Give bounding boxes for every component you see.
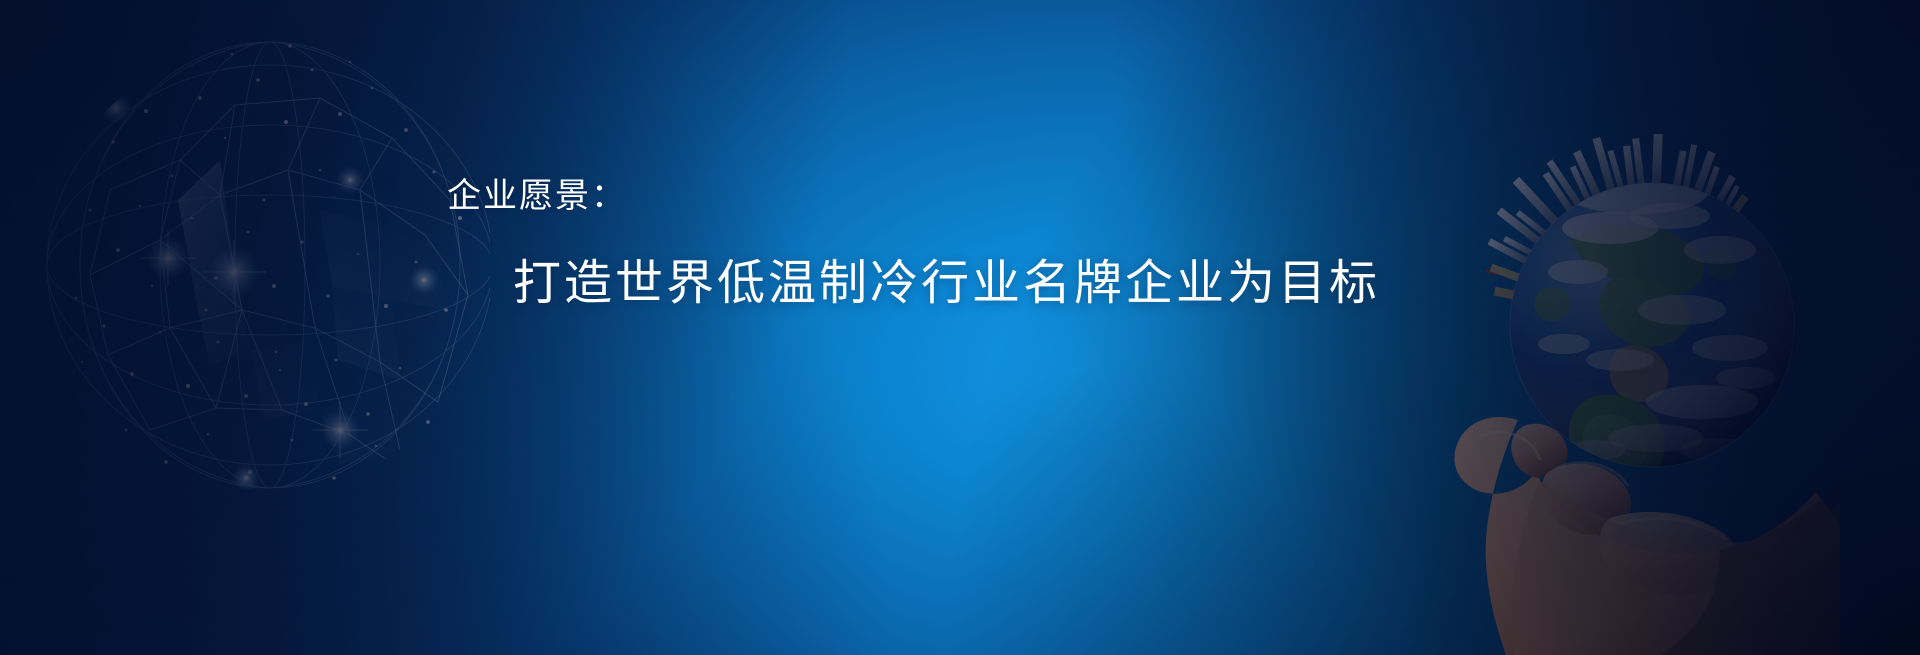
vision-label: 企业愿景： xyxy=(447,168,627,217)
vignette-overlay xyxy=(0,0,1920,655)
skyscraper-ring xyxy=(1485,134,1748,300)
hand xyxy=(1454,417,1840,655)
hand-holding-earth-graphic xyxy=(1420,120,1840,655)
earth-sphere xyxy=(1510,183,1794,467)
vision-slogan: 打造世界低温制冷行业名牌企业为目标 xyxy=(513,243,1380,313)
banner-copy: 企业愿景： 打造世界低温制冷行业名牌企业为目标 xyxy=(0,0,1920,655)
vision-banner: 企业愿景： 打造世界低温制冷行业名牌企业为目标 xyxy=(0,0,1920,655)
network-node-glow xyxy=(100,92,439,492)
earth-surface xyxy=(1535,170,1777,488)
globe-facet xyxy=(178,160,235,310)
network-globe-graphic xyxy=(20,10,490,510)
